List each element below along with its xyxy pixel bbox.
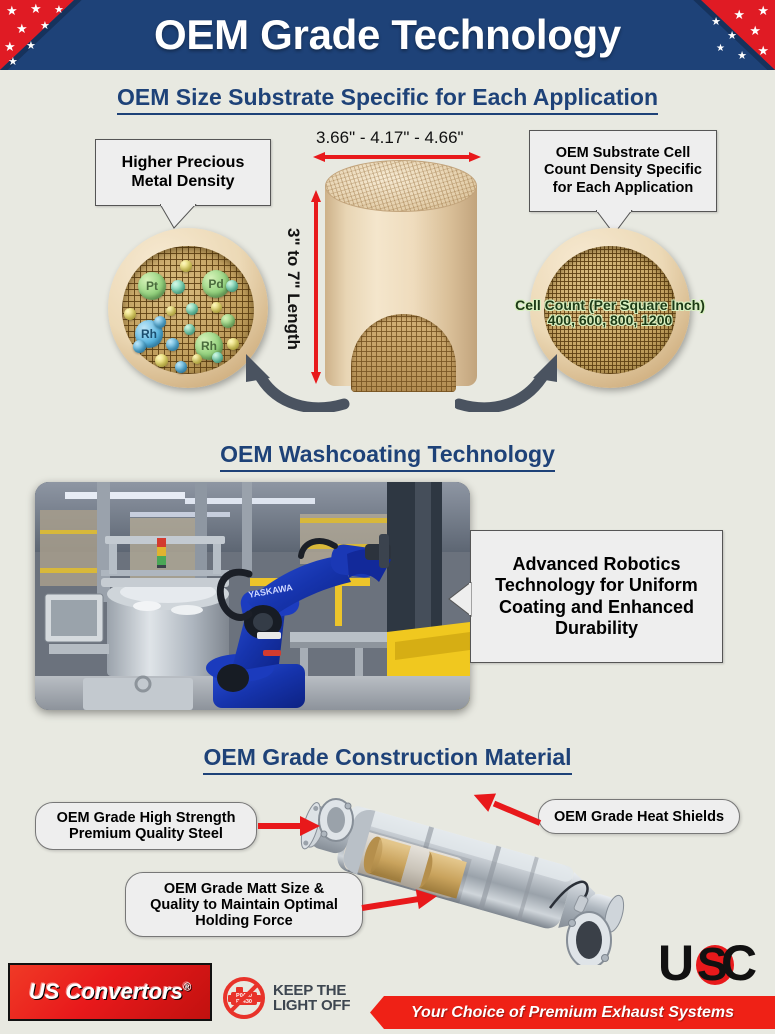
page-title: OEM Grade Technology xyxy=(0,11,775,59)
metal-particle xyxy=(186,303,198,315)
usc-logo-c: C xyxy=(721,938,757,990)
cell-count-title: Cell Count (Per Square Inch) xyxy=(492,298,728,313)
callout-higher-precious-metal-density: Higher Precious Metal Density xyxy=(95,139,271,206)
callout-line-2: Metal Density xyxy=(122,173,245,192)
callout-line-4: Durability xyxy=(495,618,698,639)
callout-matt-size-quality: OEM Grade Matt Size & Quality to Maintai… xyxy=(125,872,363,937)
metal-particle xyxy=(166,306,176,316)
callout-tail-washcoating xyxy=(448,582,472,620)
keep-the-light-off-badge: P0420 P0430 KEEP THE LIGHT OFF xyxy=(222,976,350,1020)
brand-registered-mark: ® xyxy=(183,982,191,994)
metal-particle xyxy=(133,340,146,353)
section-heading-washcoating: OEM Washcoating Technology xyxy=(0,441,775,468)
section-heading-substrate-text: OEM Size Substrate Specific for Each App… xyxy=(117,84,658,115)
section-heading-substrate: OEM Size Substrate Specific for Each App… xyxy=(0,84,775,111)
header-banner: ★ ★ ★ ★ ★ ★ ★ ★ OEM Grade Technology ★ ★… xyxy=(0,0,775,70)
callout-line-2: Quality to Maintain Optimal xyxy=(150,897,338,913)
usc-logo: U S C xyxy=(658,938,766,990)
callout-premium-quality-steel: OEM Grade High Strength Premium Quality … xyxy=(35,802,257,850)
section-heading-washcoating-text: OEM Washcoating Technology xyxy=(220,441,555,472)
callout-line-3: Coating and Enhanced xyxy=(495,597,698,618)
callout-advanced-robotics: Advanced Robotics Technology for Uniform… xyxy=(470,530,723,663)
callout-line-1: OEM Grade High Strength xyxy=(57,810,236,826)
tagline-banner: Your Choice of Premium Exhaust Systems xyxy=(370,996,775,1029)
flag-corner-right-icon: ★ ★ ★ ★ ★ ★ ★ ★ xyxy=(680,0,775,70)
metal-particle xyxy=(211,302,222,313)
callout-tail-left xyxy=(160,204,200,230)
brand-name: US Convertors xyxy=(29,979,183,1004)
callout-line-1: Higher Precious xyxy=(122,154,245,173)
callout-line-1: Advanced Robotics xyxy=(495,554,698,575)
no-check-engine-light-icon: P0420 P0430 xyxy=(222,976,266,1020)
metal-particle xyxy=(154,316,166,328)
metal-particle xyxy=(171,280,185,294)
arrow-to-steel-icon xyxy=(258,821,320,831)
keep-light-line-2: LIGHT OFF xyxy=(273,998,350,1013)
metal-particle xyxy=(155,354,168,367)
dimension-width-label: 3.66" - 4.17" - 4.66" xyxy=(316,128,464,148)
section-heading-construction-text: OEM Grade Construction Material xyxy=(203,744,571,775)
callout-line-2: Premium Quality Steel xyxy=(57,826,236,842)
callout-oem-substrate-cell-count: OEM Substrate Cell Count Density Specifi… xyxy=(529,130,717,212)
metal-particle xyxy=(226,280,238,292)
callout-line-2: Count Density Specific xyxy=(544,162,702,179)
metal-particle xyxy=(175,361,187,373)
us-convertors-brand-box: US Convertors® xyxy=(8,963,212,1021)
usc-logo-u: U xyxy=(658,938,694,990)
metal-particle xyxy=(124,308,136,320)
section-heading-construction: OEM Grade Construction Material xyxy=(0,744,775,771)
callout-line-1: OEM Substrate Cell xyxy=(544,145,702,162)
metal-particle xyxy=(221,314,235,328)
callout-line-3: Holding Force xyxy=(150,913,338,929)
cell-count-values: 400, 600, 800, 1200 xyxy=(492,313,728,328)
callout-line-1: OEM Grade Matt Size & xyxy=(150,881,338,897)
cell-count-annotation: Cell Count (Per Square Inch) 400, 600, 8… xyxy=(492,298,728,327)
infographic-page: ★ ★ ★ ★ ★ ★ ★ ★ OEM Grade Technology ★ ★… xyxy=(0,0,775,1034)
arrow-to-left-disc-icon xyxy=(240,330,350,412)
metal-particle xyxy=(184,324,195,335)
keep-light-line-1: KEEP THE xyxy=(273,983,350,998)
metal-particle xyxy=(192,354,202,364)
metal-particle xyxy=(227,338,239,350)
callout-line-3: for Each Application xyxy=(544,180,702,197)
washcoating-factory-photo: YASKAWA xyxy=(35,482,470,710)
arrow-to-right-disc-icon xyxy=(455,330,565,412)
metal-pt: Pt xyxy=(138,272,166,300)
metal-particle xyxy=(166,338,179,351)
callout-line-2: Technology for Uniform xyxy=(495,575,698,596)
metal-particle xyxy=(212,352,223,363)
metal-particle xyxy=(180,260,192,272)
callout-heat-shields: OEM Grade Heat Shields xyxy=(538,799,740,834)
tagline-text: Your Choice of Premium Exhaust Systems xyxy=(411,1004,734,1022)
callout-line-1: OEM Grade Heat Shields xyxy=(554,809,724,825)
